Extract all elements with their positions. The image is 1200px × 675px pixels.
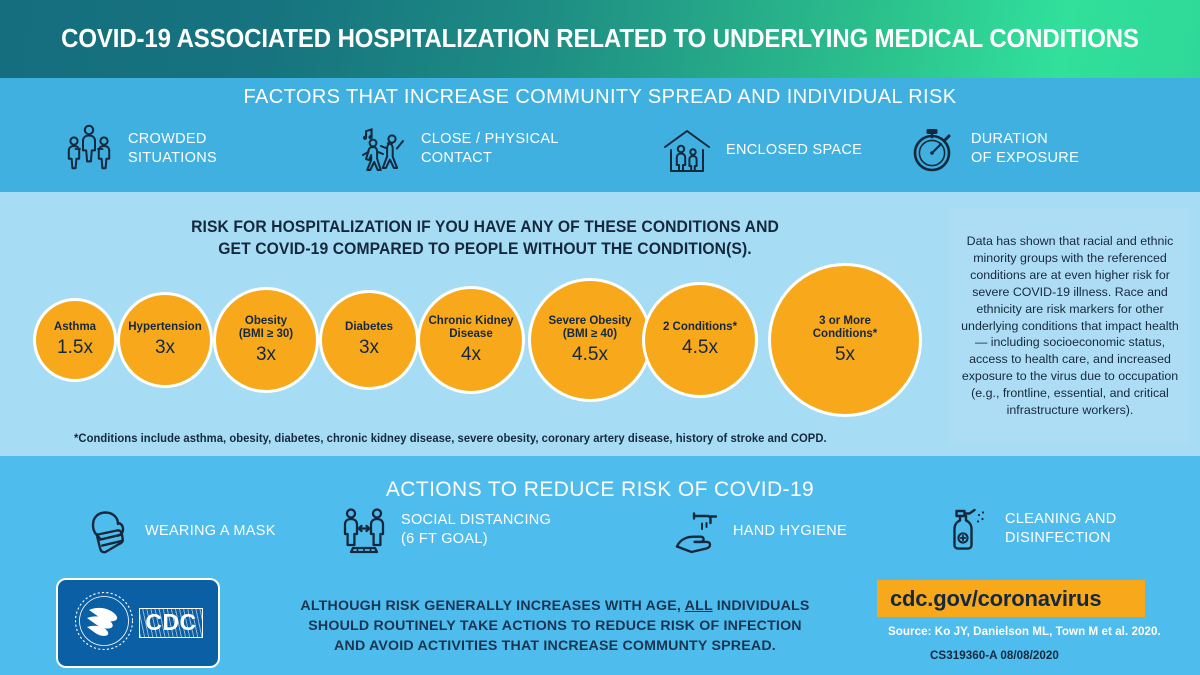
risk-circle-label: 2 Conditions* — [663, 321, 737, 335]
crowd-icon — [62, 122, 116, 176]
action-label: CLEANING AND DISINFECTION — [1005, 510, 1117, 548]
risk-circle-label: Severe Obesity (BMI ≥ 40) — [548, 315, 631, 342]
risk-circle-chart: Asthma1.5xHypertension3xObesity (BMI ≥ 3… — [0, 192, 945, 422]
risk-circle: Severe Obesity (BMI ≥ 40)4.5x — [528, 278, 652, 402]
risk-circle-value: 5x — [835, 344, 855, 366]
bottom-message-line1: ALTHOUGH RISK GENERALLY INCREASES WITH A… — [300, 598, 684, 614]
side-note-text: Data has shown that racial and ethnic mi… — [950, 233, 1190, 420]
risk-circle-label: Asthma — [54, 321, 96, 335]
risk-circle: Diabetes3x — [319, 290, 419, 390]
risk-circle: 2 Conditions*4.5x — [642, 282, 758, 398]
risk-circle-value: 3x — [155, 337, 175, 359]
bottom-message-line3: AND AVOID ACTIVITIES THAT INCREASE COMMU… — [334, 638, 776, 654]
risk-circle: 3 or More Conditions*5x — [768, 263, 922, 417]
face-mask-icon — [84, 508, 132, 556]
header-banner: COVID-19 ASSOCIATED HOSPITALIZATION RELA… — [0, 0, 1200, 78]
stopwatch-icon — [905, 122, 959, 176]
cs-number: CS319360-A 08/08/2020 — [930, 649, 1059, 662]
risk-circle-value: 4.5x — [572, 344, 608, 366]
house-people-icon — [660, 124, 714, 178]
action-wearing-a-mask: WEARING A MASK — [84, 508, 276, 556]
action-hand-hygiene: HAND HYGIENE — [672, 508, 847, 556]
bottom-message-emphasis: ALL — [685, 598, 713, 614]
factor-label: CLOSE / PHYSICAL CONTACT — [421, 130, 559, 168]
risk-circle-value: 3x — [256, 344, 276, 366]
risk-footnote: *Conditions include asthma, obesity, dia… — [74, 432, 900, 445]
risk-circle-value: 4x — [461, 344, 481, 366]
factor-crowded-situations: CROWDED SITUATIONS — [62, 122, 217, 176]
action-label: WEARING A MASK — [145, 522, 276, 541]
action-label: SOCIAL DISTANCING (6 FT GOAL) — [401, 511, 551, 549]
risk-circle: Obesity (BMI ≥ 30)3x — [213, 287, 319, 393]
action-social-distancing: SOCIAL DISTANCING (6 FT GOAL) — [340, 506, 551, 554]
risk-circle: Asthma1.5x — [33, 298, 117, 382]
cdc-wordmark: CDC — [139, 608, 202, 638]
bottom-message-line1-end: INDIVIDUALS — [713, 598, 810, 614]
actions-heading: ACTIONS TO REDUCE RISK OF COVID-19 — [0, 478, 1200, 502]
bottom-message: ALTHOUGH RISK GENERALLY INCREASES WITH A… — [250, 596, 860, 656]
factors-heading: FACTORS THAT INCREASE COMMUNITY SPREAD A… — [0, 86, 1200, 109]
side-note-panel: Data has shown that racial and ethnic mi… — [950, 208, 1190, 444]
cdc-logo[interactable]: CDC — [56, 578, 220, 668]
cdc-url-banner[interactable]: cdc.gov/coronavirus — [877, 580, 1145, 617]
social-distancing-icon — [340, 506, 388, 554]
factor-label: ENCLOSED SPACE — [726, 141, 862, 160]
risk-circle-value: 4.5x — [682, 337, 718, 359]
factor-label: CROWDED SITUATIONS — [128, 130, 217, 168]
risk-circle: Chronic Kidney Disease4x — [417, 286, 525, 394]
cdc-url-text: cdc.gov/coronavirus — [877, 586, 1101, 612]
action-label: HAND HYGIENE — [733, 522, 847, 541]
bottom-message-line2: SHOULD ROUTINELY TAKE ACTIONS TO REDUCE … — [308, 618, 802, 634]
risk-circle-label: 3 or More Conditions* — [813, 315, 878, 342]
hand-washing-icon — [672, 508, 720, 556]
hhs-seal-icon — [73, 590, 135, 657]
spray-bottle-icon — [944, 505, 992, 553]
factor-duration-of-exposure: DURATION OF EXPOSURE — [905, 122, 1079, 176]
risk-circle: Hypertension3x — [117, 292, 213, 388]
risk-circle-label: Obesity (BMI ≥ 30) — [239, 315, 293, 342]
factor-enclosed-space: ENCLOSED SPACE — [660, 124, 862, 178]
risk-circle-label: Chronic Kidney Disease — [429, 315, 514, 342]
infographic-page: COVID-19 ASSOCIATED HOSPITALIZATION RELA… — [0, 0, 1200, 675]
action-cleaning-and-disinfection: CLEANING AND DISINFECTION — [944, 505, 1117, 553]
factor-close-physical-contact: CLOSE / PHYSICAL CONTACT — [355, 122, 559, 176]
risk-circle-value: 3x — [359, 337, 379, 359]
factor-label: DURATION OF EXPOSURE — [971, 130, 1079, 168]
source-citation: Source: Ko JY, Danielson ML, Town M et a… — [888, 625, 1161, 638]
dancing-people-icon — [355, 122, 409, 176]
risk-circle-label: Hypertension — [128, 321, 202, 335]
risk-circle-value: 1.5x — [57, 337, 93, 359]
page-title: COVID-19 ASSOCIATED HOSPITALIZATION RELA… — [36, 0, 1164, 78]
risk-circle-label: Diabetes — [345, 321, 393, 335]
